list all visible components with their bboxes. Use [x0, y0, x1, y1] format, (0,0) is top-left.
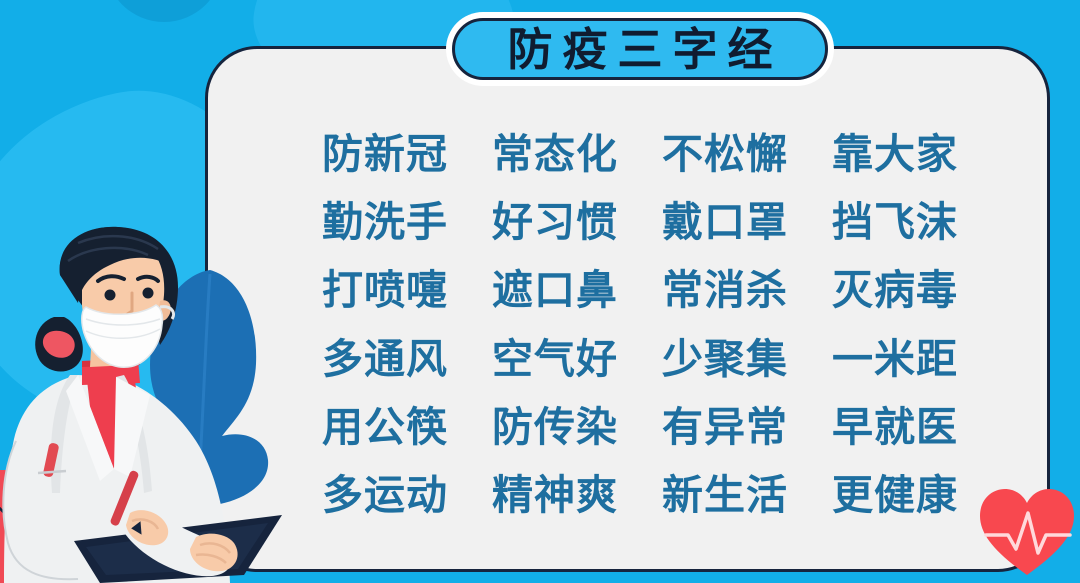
- slogan-item: 用公筷: [300, 393, 470, 461]
- slogan-item: 防新冠: [300, 120, 470, 188]
- slogan-item: 灭病毒: [810, 257, 980, 325]
- slogan-item: 好习惯: [470, 188, 640, 256]
- slogan-item: 更健康: [810, 462, 980, 530]
- slogan-item: 靠大家: [810, 120, 980, 188]
- heart-pulse-icon: [978, 487, 1076, 579]
- slogan-item: 早就医: [810, 393, 980, 461]
- slogan-item: 打喷嚏: [300, 257, 470, 325]
- slogan-item: 遮口鼻: [470, 257, 640, 325]
- title-banner: 防疫三字经: [446, 12, 834, 86]
- title-banner-inner: 防疫三字经: [452, 18, 828, 80]
- slogan-item: 防传染: [470, 393, 640, 461]
- slogan-item: 新生活: [640, 462, 810, 530]
- slogan-item: 勤洗手: [300, 188, 470, 256]
- slogan-item: 一米距: [810, 325, 980, 393]
- slogan-item: 多通风: [300, 325, 470, 393]
- slogan-item: 空气好: [470, 325, 640, 393]
- poster-root: 防新冠 常态化 不松懈 靠大家 勤洗手 好习惯 戴口罩 挡飞沫 打喷嚏 遮口鼻 …: [0, 0, 1080, 583]
- slogan-grid: 防新冠 常态化 不松懈 靠大家 勤洗手 好习惯 戴口罩 挡飞沫 打喷嚏 遮口鼻 …: [300, 120, 980, 530]
- slogan-item: 戴口罩: [640, 188, 810, 256]
- slogan-item: 不松懈: [640, 120, 810, 188]
- background-shape-top-notch: [105, 0, 223, 22]
- slogan-item: 精神爽: [470, 462, 640, 530]
- doctor-illustration: [0, 225, 292, 583]
- page-title: 防疫三字经: [497, 27, 782, 72]
- slogan-item: 常消杀: [640, 257, 810, 325]
- slogan-item: 挡飞沫: [810, 188, 980, 256]
- slogan-item: 有异常: [640, 393, 810, 461]
- slogan-item: 常态化: [470, 120, 640, 188]
- slogan-item: 少聚集: [640, 325, 810, 393]
- slogan-item: 多运动: [300, 462, 470, 530]
